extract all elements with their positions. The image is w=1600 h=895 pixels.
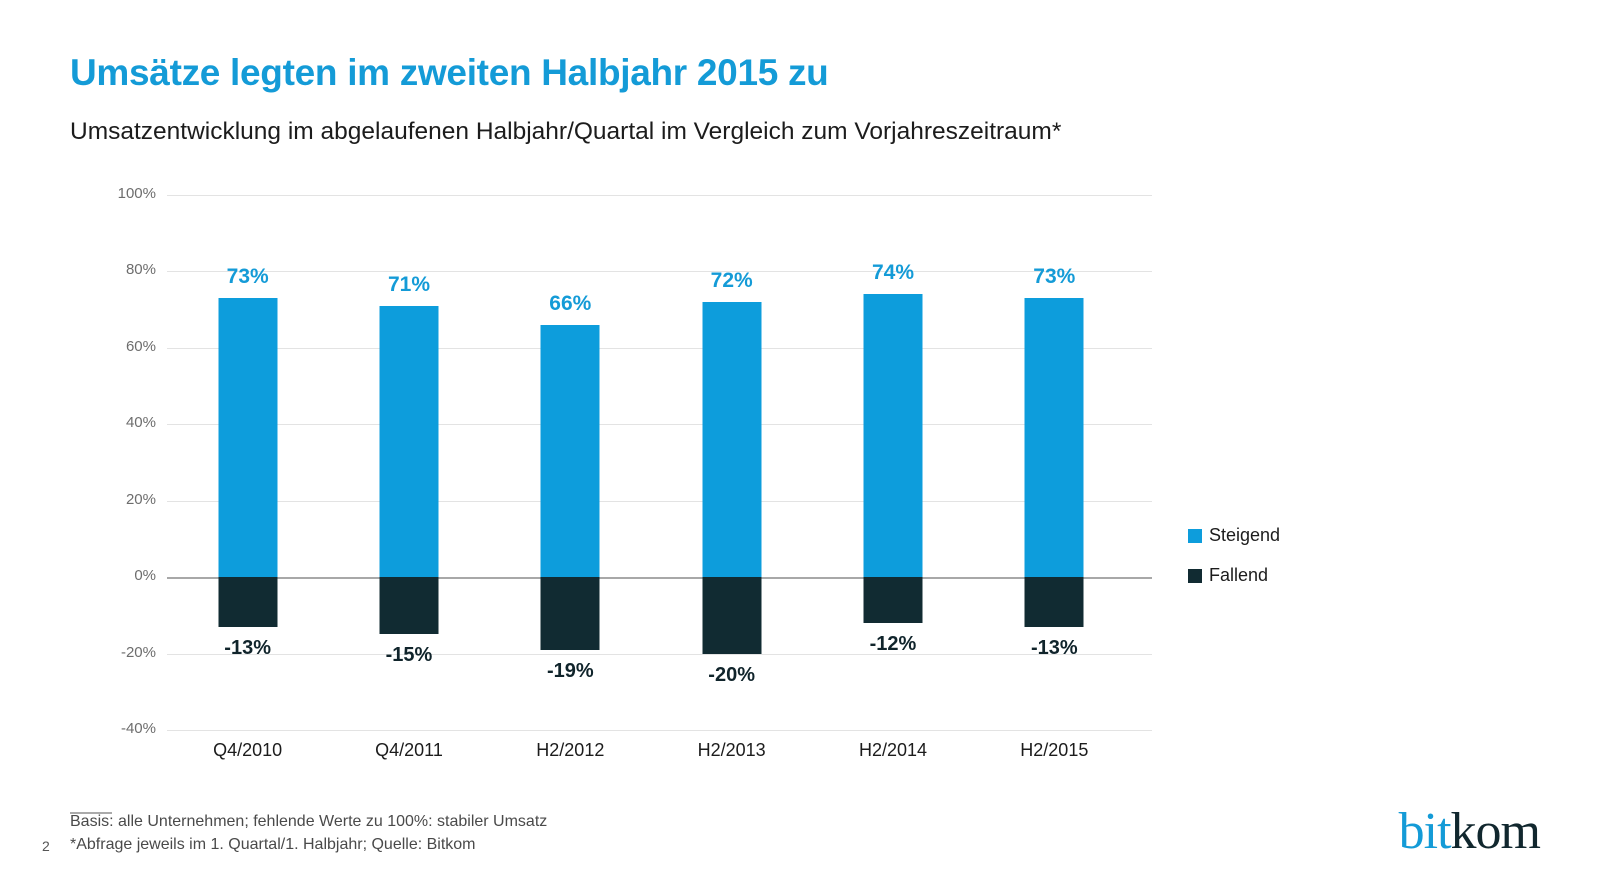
x-axis-category-label: H2/2013 xyxy=(698,740,766,761)
bar-steigend[interactable] xyxy=(863,294,922,577)
bar-value-label-fallend: -15% xyxy=(386,644,433,667)
plot-area: 73%-13%Q4/201071%-15%Q4/201166%-19%H2/20… xyxy=(167,195,1135,730)
bar-value-label-steigend: 74% xyxy=(872,261,914,285)
bar-fallend[interactable] xyxy=(702,577,761,653)
footnote-source: *Abfrage jeweils im 1. Quartal/1. Halbja… xyxy=(70,836,476,854)
bar-value-label-steigend: 71% xyxy=(388,273,430,297)
y-axis-tick-label: -40% xyxy=(86,720,156,737)
y-axis-tick-label: 80% xyxy=(86,261,156,278)
bar-value-label-fallend: -12% xyxy=(870,633,917,656)
y-axis-tick-label: 60% xyxy=(86,338,156,355)
x-axis-category-label: Q4/2010 xyxy=(213,740,282,761)
y-axis-tick-label: 40% xyxy=(86,414,156,431)
x-axis-category-label: H2/2015 xyxy=(1020,740,1088,761)
bar-value-label-fallend: -19% xyxy=(547,660,594,683)
bitkom-logo: bitkom xyxy=(1399,806,1540,858)
bar-steigend[interactable] xyxy=(541,325,600,577)
bar-chart: 100%80%60%40%20%0%-20%-40% 73%-13%Q4/201… xyxy=(0,0,1600,895)
legend-item[interactable]: Fallend xyxy=(1188,565,1280,586)
footnote-basis: Basis: alle Unternehmen; fehlende Werte … xyxy=(70,813,547,831)
bar-value-label-fallend: -13% xyxy=(1031,637,1078,660)
bar-value-label-steigend: 73% xyxy=(227,265,269,289)
logo-text-bit: bit xyxy=(1399,803,1451,860)
bar-fallend[interactable] xyxy=(218,577,277,627)
bar-group: 71%-15%Q4/2011 xyxy=(328,195,489,730)
bar-group: 72%-20%H2/2013 xyxy=(651,195,812,730)
y-axis-tick-label: 0% xyxy=(86,567,156,584)
bar-value-label-steigend: 72% xyxy=(711,269,753,293)
y-axis-tick-label: 100% xyxy=(86,185,156,202)
bar-steigend[interactable] xyxy=(379,306,438,577)
page-number: 2 xyxy=(42,838,50,854)
bar-fallend[interactable] xyxy=(863,577,922,623)
slide-root: Umsätze legten im zweiten Halbjahr 2015 … xyxy=(0,0,1600,895)
bar-group: 66%-19%H2/2012 xyxy=(490,195,651,730)
legend-item-label: Fallend xyxy=(1209,565,1268,586)
bar-value-label-fallend: -13% xyxy=(224,637,271,660)
bar-group: 74%-12%H2/2014 xyxy=(812,195,973,730)
bar-group: 73%-13%Q4/2010 xyxy=(167,195,328,730)
logo-text-kom: kom xyxy=(1451,803,1540,860)
x-axis-category-label: H2/2014 xyxy=(859,740,927,761)
bar-value-label-steigend: 73% xyxy=(1033,265,1075,289)
bar-steigend[interactable] xyxy=(702,302,761,577)
chart-legend: SteigendFallend xyxy=(1188,525,1280,605)
bar-value-label-fallend: -20% xyxy=(708,664,755,687)
legend-swatch-icon xyxy=(1188,569,1202,583)
legend-item[interactable]: Steigend xyxy=(1188,525,1280,546)
legend-item-label: Steigend xyxy=(1209,525,1280,546)
bar-value-label-steigend: 66% xyxy=(549,292,591,316)
x-axis-category-label: Q4/2011 xyxy=(375,740,443,761)
bar-group: 73%-13%H2/2015 xyxy=(974,195,1135,730)
bar-steigend[interactable] xyxy=(218,298,277,577)
gridline xyxy=(167,730,1152,731)
x-axis-category-label: H2/2012 xyxy=(536,740,604,761)
legend-swatch-icon xyxy=(1188,529,1202,543)
bar-steigend[interactable] xyxy=(1025,298,1084,577)
bar-fallend[interactable] xyxy=(379,577,438,634)
y-axis-tick-label: -20% xyxy=(86,644,156,661)
y-axis-tick-label: 20% xyxy=(86,491,156,508)
bar-fallend[interactable] xyxy=(1025,577,1084,627)
bar-fallend[interactable] xyxy=(541,577,600,650)
